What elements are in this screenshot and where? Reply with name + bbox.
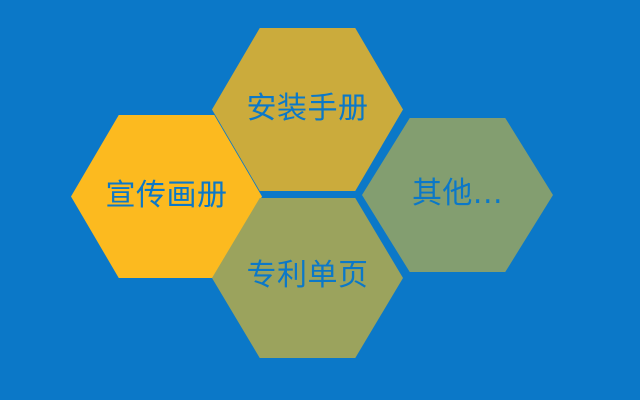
hexagon-cluster: 宣传画册 安装手册 专利单页 其他... [0,0,640,400]
hexagon-patent-label: 专利单页 [247,261,369,291]
hexagon-manual-label: 安装手册 [247,94,369,124]
hexagon-other-label: 其他... [412,179,503,209]
hexagon-brochure-label: 宣传画册 [106,181,228,211]
hexagon-other[interactable]: 其他... [362,118,553,272]
slide-canvas: 宣传画册 安装手册 专利单页 其他... [0,0,640,400]
